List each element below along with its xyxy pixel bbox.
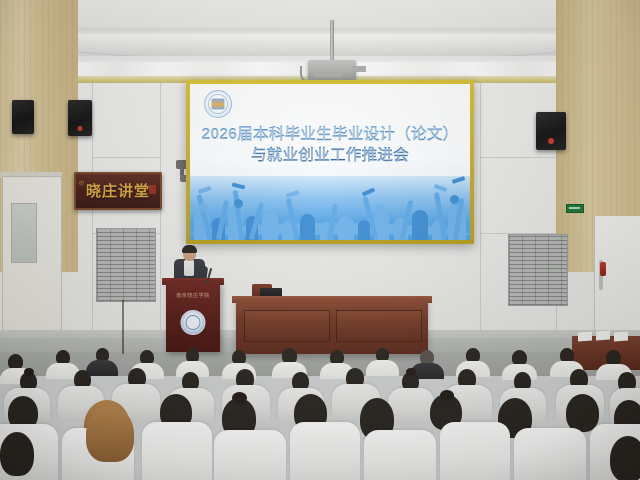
- stage-table: [236, 300, 428, 354]
- university-emblem: [181, 310, 206, 335]
- plaque-side-inscription: 印: [79, 182, 85, 187]
- presenter-shirt: [184, 260, 194, 276]
- slide-title: 2026届本科毕业生毕业设计（论文） 与就业创业工作推进会: [190, 124, 470, 166]
- university-seal-logo: [204, 90, 232, 118]
- air-vent-right: [508, 234, 568, 306]
- plaque-text: 晓庄讲堂: [86, 184, 150, 199]
- projection-screen: 2026届本科毕业生毕业设计（论文） 与就业创业工作推进会 电子工程学院 时间：…: [190, 84, 470, 240]
- venue-plaque: 印 晓庄讲堂: [74, 172, 162, 210]
- wall-seam: [92, 157, 160, 158]
- door-window: [11, 203, 37, 263]
- wall-seam: [480, 157, 556, 158]
- projection-screen-frame: 2026届本科毕业生毕业设计（论文） 与就业创业工作推进会 电子工程学院 时间：…: [186, 80, 474, 244]
- presenter-hair: [182, 245, 197, 253]
- fire-extinguisher: [600, 262, 606, 276]
- exit-sign: [566, 204, 584, 213]
- projector-mount-pole: [330, 20, 334, 64]
- wall-seam: [480, 83, 481, 355]
- wall-speaker-left: [68, 100, 92, 136]
- wall-seam: [92, 83, 93, 355]
- speaker-podium: 南京晓庄学院: [166, 282, 220, 352]
- table-seam: [122, 300, 124, 354]
- air-vent-left: [96, 228, 156, 302]
- plaque-seal: [149, 185, 156, 194]
- slide-title-line2: 与就业创业工作推进会: [190, 145, 470, 166]
- wall-seam: [160, 83, 161, 355]
- slide-crowd-graphic: [190, 176, 470, 240]
- wall-speaker-far-left: [12, 100, 34, 134]
- lecture-hall-photo: 印 晓庄讲堂 2026届本科毕业生毕业设计（论文） 与就业创业工作推进会 电子工…: [0, 0, 640, 480]
- projector-bracket: [352, 66, 366, 72]
- podium-banner-text: 南京晓庄学院: [166, 292, 220, 299]
- slide-title-line1: 2026届本科毕业生毕业设计（论文）: [190, 124, 470, 145]
- wall-speaker-right: [536, 112, 566, 150]
- audience-seating: [0, 348, 640, 480]
- table-panel: [336, 310, 422, 342]
- table-panel: [244, 310, 330, 342]
